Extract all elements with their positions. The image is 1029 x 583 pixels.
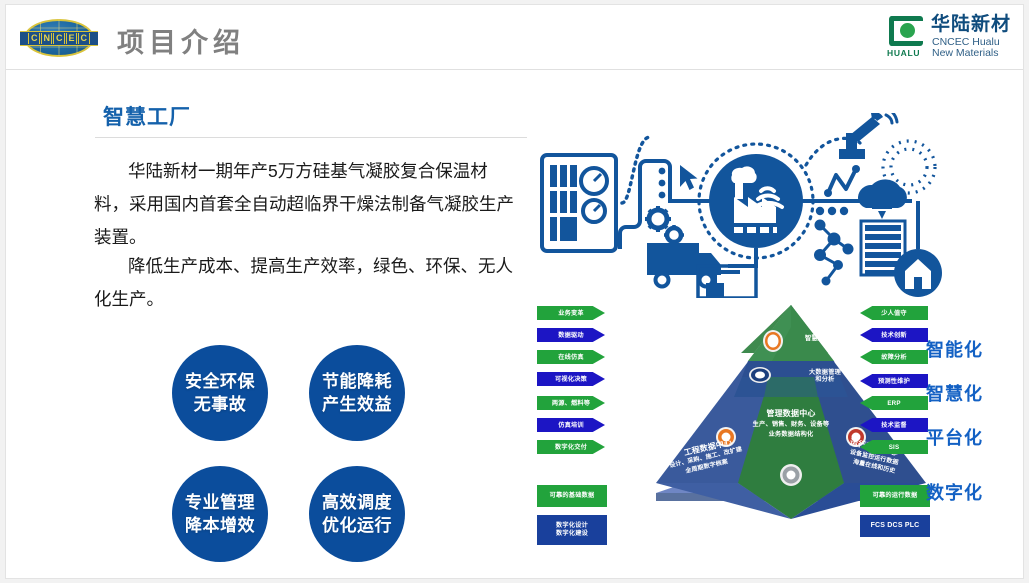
left-box-1[interactable]: 数字化设计 数字化建设: [537, 515, 607, 545]
industry-4-0-illustration-svg: [534, 113, 1014, 298]
circle-line-2: 产生效益: [322, 393, 392, 416]
left-tag-5[interactable]: 仿真培训: [537, 418, 605, 432]
cloud-icon: [858, 179, 907, 219]
circle-line-2: 无事故: [194, 393, 247, 416]
cncec-letter: C: [78, 33, 90, 44]
slide-header: C N C E C 项目介绍 HUALU 华陆新材 CNCEC Hualu Ne…: [6, 5, 1024, 69]
circle-line-1: 节能降耗: [322, 370, 392, 393]
right-tag-6[interactable]: SIS: [860, 440, 928, 454]
right-box-0[interactable]: 可靠的运行数据: [860, 485, 930, 507]
big-tag-digital: 数字化: [926, 479, 983, 505]
hualu-latin-wordmark: HUALU: [887, 48, 920, 58]
right-tag-1[interactable]: 技术创新: [860, 328, 928, 342]
dotted-connector: [622, 137, 650, 203]
cncec-letter: C: [28, 33, 40, 44]
left-tag-2[interactable]: 在线仿真: [537, 350, 605, 364]
molecule-network-icon: [814, 220, 854, 286]
left-tag-1[interactable]: 数据驱动: [537, 328, 605, 342]
left-tag-6[interactable]: 数字化交付: [537, 440, 605, 454]
cncec-letter: E: [66, 33, 77, 44]
section-divider: [95, 137, 527, 138]
left-tag-4[interactable]: 两源、燃料等: [537, 396, 605, 410]
header-divider: [6, 69, 1024, 70]
cncec-letter: C: [53, 33, 65, 44]
cursor-icon: [680, 165, 698, 190]
slide-canvas: C N C E C 项目介绍 HUALU 华陆新材 CNCEC Hualu Ne…: [5, 4, 1024, 579]
big-tag-platform: 平台化: [926, 424, 983, 450]
section-title: 智慧工厂: [103, 101, 191, 131]
cncec-logo: C N C E C: [20, 17, 98, 59]
gears-icon: [645, 206, 684, 245]
hualu-logo: HUALU 华陆新材 CNCEC Hualu New Materials: [887, 15, 1013, 59]
factory-circle-icon: [699, 144, 813, 258]
right-tag-3[interactable]: 预测性维护: [860, 374, 928, 388]
pyramid-center-sub2: 业务数据结构化: [742, 431, 840, 438]
pyramid-center-title: 管理数据中心: [742, 409, 840, 418]
circle-line-1: 高效调度: [322, 491, 392, 514]
hualu-chinese-name: 华陆新材: [931, 14, 1011, 35]
right-tag-4[interactable]: ERP: [860, 396, 928, 410]
smart-home-icon: [894, 201, 942, 297]
pyramid-tier2-label: 大数据管理 和分析: [794, 369, 856, 383]
benefit-circle-safety: 安全环保 无事故: [172, 345, 268, 441]
hualu-english-line2: New Materials: [932, 47, 999, 59]
left-tag-3[interactable]: 可视化决策: [537, 372, 605, 386]
left-tag-0[interactable]: 业务变革: [537, 306, 605, 320]
right-box-1[interactable]: FCS DCS PLC: [860, 515, 930, 537]
body-paragraph-2: 降低生产成本、提高生产效率，绿色、环保、无人化生产。: [94, 250, 514, 316]
industry-illustration: [534, 113, 1014, 298]
maturity-pyramid-diagram: 智慧工厂 大数据管理 和分析 管理数据中心 生产、销售、财务、设备等 业务数据结…: [526, 297, 1024, 562]
right-tag-2[interactable]: 故障分析: [860, 350, 928, 364]
line-chart-icon: [824, 165, 860, 197]
cncec-letter: N: [41, 33, 53, 44]
hualu-mark-icon: [887, 15, 927, 47]
circle-line-1: 安全环保: [185, 370, 255, 393]
cncec-wordmark: C N C E C: [20, 31, 98, 46]
circle-line-2: 优化运行: [322, 514, 392, 537]
pyramid-center-sub1: 生产、销售、财务、设备等: [738, 421, 844, 428]
left-box-0[interactable]: 可靠的基础数据: [537, 485, 607, 507]
circle-line-1: 专业管理: [185, 491, 255, 514]
right-tag-5[interactable]: 技术监督: [860, 418, 928, 432]
dashboard-tablet-icon: [542, 155, 616, 251]
body-paragraph-1: 华陆新材一期年产5万方硅基气凝胶复合保温材料，采用国内首套全自动超临界干燥法制备…: [94, 155, 514, 254]
big-tag-smart: 智慧化: [926, 380, 983, 406]
circle-line-2: 降本增效: [185, 514, 255, 537]
big-tag-intelligent: 智能化: [926, 336, 983, 362]
pyramid-apex-label: 智慧工厂: [788, 335, 848, 342]
right-tag-0[interactable]: 少人值守: [860, 306, 928, 320]
page-title: 项目介绍: [117, 21, 245, 60]
benefit-circle-management: 专业管理 降本增效: [172, 466, 268, 562]
benefit-circle-energy: 节能降耗 产生效益: [309, 345, 405, 441]
benefit-circle-scheduling: 高效调度 优化运行: [309, 466, 405, 562]
